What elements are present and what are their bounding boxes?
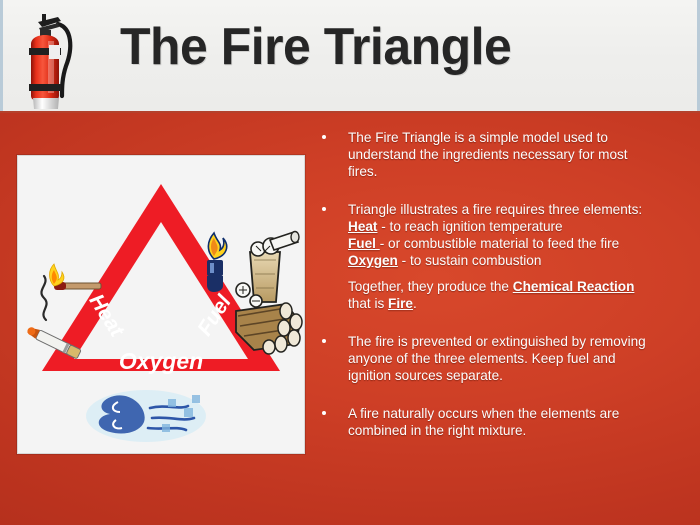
element-heat-line: Heat - to reach ignition temperature [348,218,690,235]
svg-text:Oxygen: Oxygen [119,348,203,374]
bullet-line: The fire is prevented or extinguished by… [348,333,690,350]
element-term-fuel: Fuel [348,236,380,251]
element-fuel-line: Fuel - or combustible material to feed t… [348,235,690,252]
summary-chemical-reaction: Chemical Reaction [513,279,635,294]
summary-line-2: that is Fire. [348,295,690,312]
summary-line-1: Together, they produce the Chemical Reac… [348,278,690,295]
fire-extinguisher-icon [18,8,80,110]
air-wind-icon [86,390,206,442]
summary-mid: that is [348,296,388,311]
list-item: The Fire Triangle is a simple model used… [318,129,690,180]
slide-body: Heat Fuel Oxygen [0,113,700,525]
slide-fire-triangle: The Fire Triangle [0,0,700,525]
list-item: Triangle illustrates a fire requires thr… [318,201,690,312]
bullet-line: combined in the right mixture. [348,422,690,439]
bullet-line: Triangle illustrates a fire requires thr… [348,201,690,218]
bullet-line: understand the ingredients necessary for… [348,146,690,163]
summary-fire: Fire [388,296,413,311]
bullet-dot-icon [322,339,326,343]
bullet-dot-icon [322,207,326,211]
fire-triangle-diagram: Heat Fuel Oxygen [17,155,305,454]
bullet-line: A fire naturally occurs when the element… [348,405,690,422]
element-desc-heat: - to reach ignition temperature [377,219,562,234]
summary-pre: Together, they produce the [348,279,513,294]
element-desc-fuel: - or combustible material to feed the fi… [380,236,620,251]
bullet-dot-icon [322,411,326,415]
bullet-line: fires. [348,163,690,180]
summary-post: . [413,296,417,311]
element-term-heat: Heat [348,219,377,234]
slide-header: The Fire Triangle [0,0,700,113]
element-term-oxygen: Oxygen [348,253,398,268]
list-item: The fire is prevented or extinguished by… [318,333,690,384]
bullet-line: anyone of the three elements. Keep fuel … [348,350,690,367]
element-desc-oxygen: - to sustain combustion [398,253,542,268]
element-oxygen-line: Oxygen - to sustain combustion [348,252,690,269]
page-title: The Fire Triangle [120,17,511,77]
label-oxygen: Oxygen [119,348,203,374]
bullet-line: The Fire Triangle is a simple model used… [348,129,690,146]
list-item: A fire naturally occurs when the element… [318,405,690,439]
bullet-dot-icon [322,135,326,139]
bullet-line: ignition sources separate. [348,367,690,384]
bullet-list: The Fire Triangle is a simple model used… [318,129,690,521]
